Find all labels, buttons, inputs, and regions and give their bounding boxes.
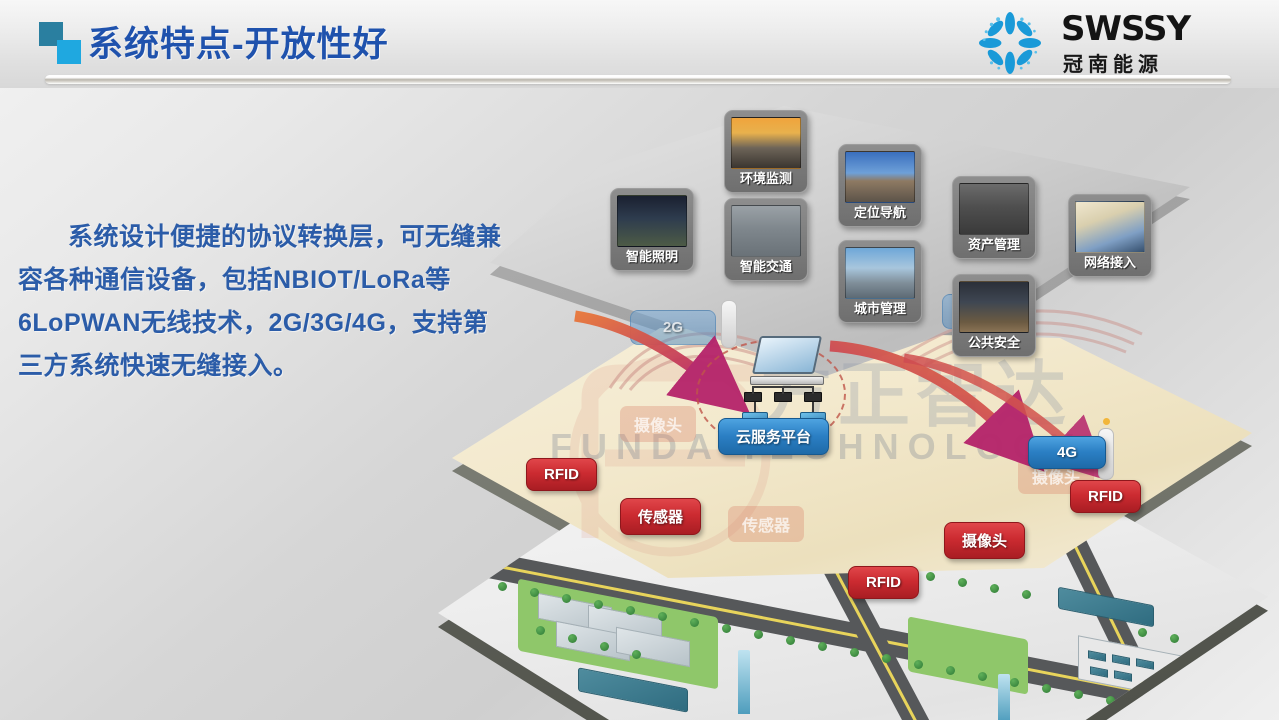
app-card-env-monitor[interactable]: 环境监测: [724, 110, 808, 193]
thumb-night-city-lighting-icon: [617, 195, 687, 247]
app-card-label: 城市管理: [845, 299, 915, 319]
badge-rfid-right[interactable]: RFID: [1070, 480, 1141, 513]
brand-name-cn: 冠南能源: [1063, 48, 1163, 77]
badge-rfid-center[interactable]: RFID: [848, 566, 919, 599]
app-card-positioning-nav[interactable]: 定位导航: [838, 144, 922, 227]
network-badge-2g[interactable]: 2G: [630, 310, 716, 345]
badge-cloud-service-platform[interactable]: 云服务平台: [718, 418, 829, 455]
app-card-label: 智能照明: [617, 247, 687, 267]
app-card-public-safety[interactable]: 公共安全: [952, 274, 1036, 357]
app-card-label: 环境监测: [731, 169, 801, 189]
app-card-asset-management[interactable]: 资产管理: [952, 176, 1036, 259]
thumb-highway-traffic-jam-icon: [731, 205, 801, 257]
server-monitor-icon: [752, 336, 822, 374]
ghost-label-camera: 摄像头: [620, 406, 696, 442]
badge-rfid-left[interactable]: RFID: [526, 458, 597, 491]
page-title: 系统特点-开放性好: [88, 16, 389, 67]
app-card-city-management[interactable]: 城市管理: [838, 240, 922, 323]
thumb-city-skyline-aerial-icon: [845, 247, 915, 299]
app-card-label: 智能交通: [731, 257, 801, 277]
antenna-light: [1103, 418, 1110, 425]
server-monitor-stand-icon: [750, 376, 824, 385]
water-droplet-petal-emblem-icon: [971, 10, 1049, 76]
app-card-label: 公共安全: [959, 333, 1029, 353]
badge-network-4g[interactable]: 4G: [1028, 436, 1106, 469]
tower-building-2: [998, 674, 1010, 720]
ghost-label-sensor: 传感器: [728, 506, 804, 542]
iot-architecture-diagram: 方正智达 FUNDA TECHNOLOGY 摄像头 传感器 摄像头 2G 3G: [430, 88, 1279, 688]
title-decor-squares: [37, 22, 89, 66]
app-card-smart-lighting[interactable]: 智能照明: [610, 188, 694, 271]
app-card-label: 网络接入: [1075, 253, 1145, 273]
app-card-smart-traffic[interactable]: 智能交通: [724, 198, 808, 281]
slide-header: 系统特点-开放性好: [0, 0, 1279, 88]
tower-building: [738, 650, 750, 714]
brand-name: SWSSY: [1061, 9, 1190, 49]
badge-sensor-left[interactable]: 传感器: [620, 498, 701, 535]
thumb-handheld-map-device-icon: [1075, 201, 1145, 253]
app-card-label: 定位导航: [845, 203, 915, 223]
brand-logo: SWSSY 冠南能源: [961, 6, 1261, 78]
thumb-control-room-monitors-icon: [959, 281, 1029, 333]
thumb-truck-on-highway-icon: [845, 151, 915, 203]
thumb-manhole-cover-icon: [959, 183, 1029, 235]
app-card-network-access[interactable]: 网络接入: [1068, 194, 1152, 277]
decor-square-light: [57, 40, 81, 64]
thumb-smokestack-pollution-icon: [731, 117, 801, 169]
badge-camera-right[interactable]: 摄像头: [944, 522, 1025, 559]
app-card-label: 资产管理: [959, 235, 1029, 255]
